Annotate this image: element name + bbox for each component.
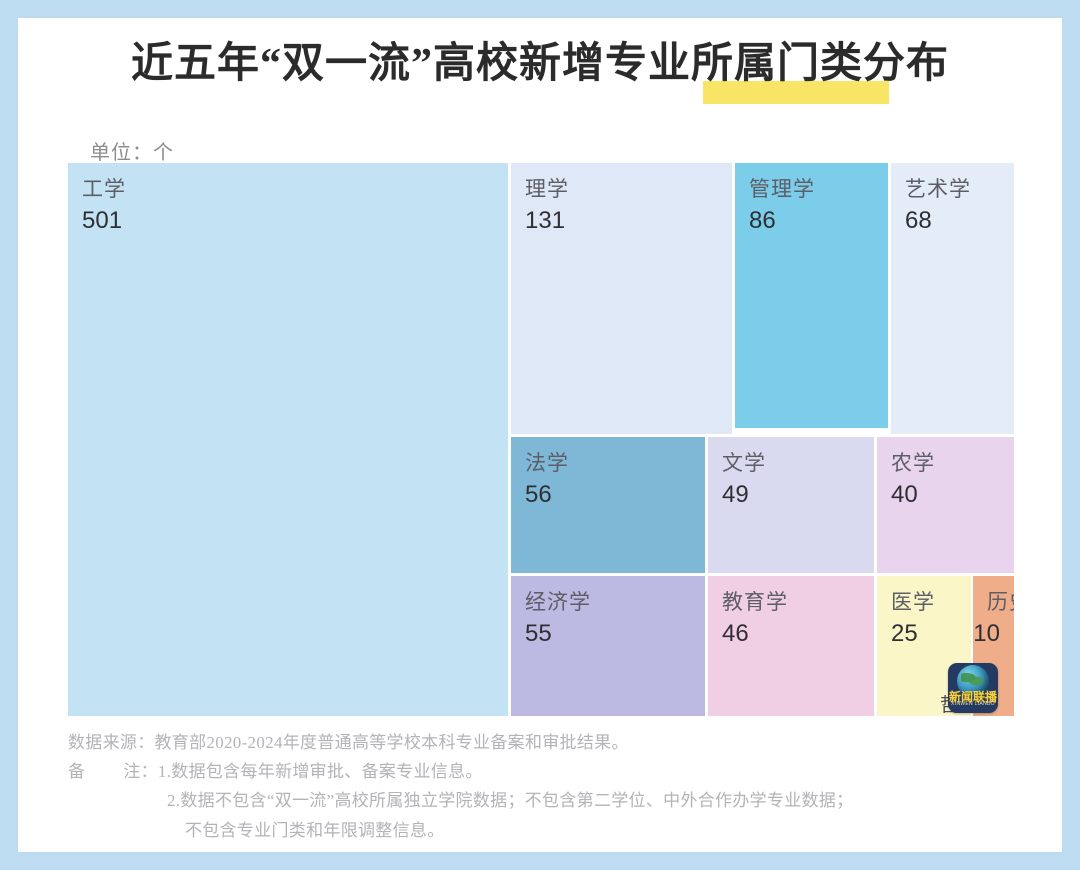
footer-note-label: 备 — [68, 762, 85, 781]
footer-source-text: 教育部2020-2024年度普通高等学校本科专业备案和审批结果。 — [155, 733, 629, 752]
xinwen-lianbo-logo: 新闻联播 XINWEN LIANBO — [948, 663, 998, 713]
footer-note-line-1: 备注：1.数据包含每年新增审批、备案专业信息。 — [68, 757, 998, 786]
treemap-cell-value: 55 — [525, 620, 552, 648]
treemap-cell-value: 40 — [891, 481, 918, 509]
treemap-cell-label: 农学 — [891, 447, 935, 477]
chart-card: 近五年“双一流”高校新增专业所属门类分布 单位：个 工学501理学131管理学8… — [18, 18, 1062, 852]
treemap-cell-label: 文学 — [722, 447, 766, 477]
title-block: 近五年“双一流”高校新增专业所属门类分布 — [18, 38, 1062, 91]
treemap-cell-label: 理学 — [525, 173, 569, 203]
treemap-cell[interactable]: 教育学46 — [708, 576, 874, 716]
footer-note-3: 不包含专业门类和年限调整信息。 — [185, 821, 445, 840]
footer-note-line-3: 不包含专业门类和年限调整信息。 — [68, 816, 998, 845]
treemap-cell[interactable]: 艺术学68 — [891, 163, 1014, 434]
treemap-cell-label: 医学 — [891, 586, 935, 616]
footer-note-line-2: 2.数据不包含“双一流”高校所属独立学院数据；不包含第二学位、中外合作办学专业数… — [68, 786, 998, 815]
treemap-cell-value: 56 — [525, 481, 552, 509]
treemap-cell[interactable]: 工学501 — [68, 163, 508, 716]
treemap-chart: 工学501理学131管理学86艺术学68法学56文学49农学40经济学55教育学… — [68, 163, 1014, 716]
treemap-cell-value: 86 — [749, 207, 776, 235]
title-part-3: 分布 — [863, 41, 949, 87]
footer-note-label-2: 注： — [123, 762, 158, 781]
treemap-cell-value: 10 — [973, 620, 1000, 648]
treemap-cell-value: 25 — [891, 620, 918, 648]
treemap-cell-label: 艺术学 — [905, 173, 971, 203]
footer-source-line: 数据来源：教育部2020-2024年度普通高等学校本科专业备案和审批结果。 — [68, 728, 998, 757]
logo-name-pinyin: XINWEN LIANBO — [948, 701, 998, 707]
treemap-cell-label: 工学 — [82, 173, 126, 203]
treemap-cell-label: 管理学 — [749, 173, 815, 203]
treemap-cell-value: 501 — [82, 207, 122, 235]
treemap-cell[interactable]: 法学56 — [511, 437, 705, 573]
treemap-cell[interactable]: 管理学86 — [735, 163, 888, 428]
treemap-cell[interactable]: 经济学55 — [511, 576, 705, 716]
treemap-cell[interactable]: 文学49 — [708, 437, 874, 573]
unit-label: 单位：个 — [90, 136, 174, 165]
treemap-cell-label: 教育学 — [722, 586, 788, 616]
title-part-1: 近五年“双一流”高校新增专业 — [131, 41, 691, 87]
treemap-cell-value: 68 — [905, 207, 932, 235]
footer-source-label: 数据来源： — [68, 733, 155, 752]
treemap-cell-label: 经济学 — [525, 586, 591, 616]
treemap-cell-value: 46 — [722, 620, 749, 648]
footer-notes: 数据来源：教育部2020-2024年度普通高等学校本科专业备案和审批结果。 备注… — [68, 728, 998, 845]
footer-note-2: 2.数据不包含“双一流”高校所属独立学院数据；不包含第二学位、中外合作办学专业数… — [167, 791, 853, 810]
treemap-cell[interactable]: 理学131 — [511, 163, 732, 434]
page-title: 近五年“双一流”高校新增专业所属门类分布 — [131, 38, 949, 91]
treemap-cell-label: 历史学 — [987, 586, 1014, 616]
treemap-cell-value: 131 — [525, 207, 565, 235]
footer-note-1: 1.数据包含每年新增审批、备案专业信息。 — [158, 762, 483, 781]
treemap-cell[interactable]: 农学40 — [877, 437, 1014, 573]
treemap-cell-value: 49 — [722, 481, 749, 509]
treemap-cell-label: 法学 — [525, 447, 569, 477]
title-part-highlight: 所属门类 — [691, 41, 863, 87]
